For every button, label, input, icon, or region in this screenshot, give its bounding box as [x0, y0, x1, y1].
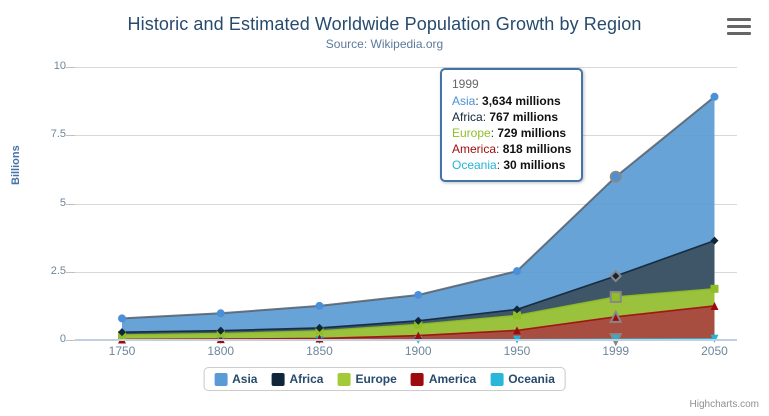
- plot-area: [75, 67, 737, 340]
- point-marker-asia[interactable]: [611, 172, 621, 182]
- y-axis-tick: 2.5: [6, 265, 66, 277]
- legend: AsiaAfricaEuropeAmericaOceania: [203, 367, 566, 391]
- chart-title: Historic and Estimated Worldwide Populat…: [0, 14, 769, 35]
- x-axis-tick: 1900: [405, 344, 432, 358]
- hamburger-bar: [727, 32, 751, 35]
- legend-item-america[interactable]: America: [411, 372, 476, 386]
- legend-label: Africa: [289, 372, 323, 386]
- x-axis-line: [75, 340, 737, 341]
- x-axis-tick: 1750: [109, 344, 136, 358]
- highcharts-credit[interactable]: Highcharts.com: [690, 399, 759, 410]
- tooltip-header: 1999: [452, 76, 571, 93]
- point-marker-europe[interactable]: [710, 285, 718, 293]
- legend-item-europe[interactable]: Europe: [337, 372, 396, 386]
- chart-container: Historic and Estimated Worldwide Populat…: [0, 0, 769, 416]
- tooltip-separator: :: [496, 142, 503, 156]
- tooltip-rows: Asia: 3,634 millionsAfrica: 767 millions…: [452, 93, 571, 173]
- legend-items: AsiaAfricaEuropeAmericaOceania: [214, 372, 555, 386]
- tooltip-series-name: Europe: [452, 126, 491, 140]
- x-axis-tick: 1999: [602, 344, 629, 358]
- tooltip-row: Asia: 3,634 millions: [452, 93, 571, 109]
- y-axis-tick-mark: [66, 204, 75, 205]
- y-axis-tick-mark: [66, 135, 75, 136]
- y-axis-title: Billions: [10, 145, 22, 185]
- series-layer: [75, 67, 737, 340]
- legend-item-africa[interactable]: Africa: [271, 372, 323, 386]
- point-marker-europe[interactable]: [611, 292, 621, 302]
- y-axis-tick: 7.5: [6, 128, 66, 140]
- tooltip-series-name: Asia: [452, 94, 475, 108]
- tooltip-series-name: America: [452, 142, 496, 156]
- tooltip-row: Oceania: 30 millions: [452, 157, 571, 173]
- y-axis-tick-mark: [66, 272, 75, 273]
- legend-swatch: [411, 373, 424, 386]
- tooltip-series-value: 818 millions: [503, 142, 572, 156]
- legend-item-oceania[interactable]: Oceania: [490, 372, 555, 386]
- tooltip-series-value: 767 millions: [489, 110, 558, 124]
- legend-label: Oceania: [508, 372, 555, 386]
- tooltip-series-value: 30 millions: [503, 158, 565, 172]
- legend-swatch: [271, 373, 284, 386]
- tooltip-row: America: 818 millions: [452, 141, 571, 157]
- hamburger-bar: [727, 25, 751, 28]
- tooltip-series-name: Oceania: [452, 158, 497, 172]
- x-axis-tick: 1950: [504, 344, 531, 358]
- legend-swatch: [214, 373, 227, 386]
- y-axis-tick-mark: [66, 67, 75, 68]
- x-axis-tick: 1850: [306, 344, 333, 358]
- chart-subtitle: Source: Wikipedia.org: [0, 37, 769, 51]
- legend-label: Europe: [355, 372, 396, 386]
- y-axis-tick: 5: [6, 197, 66, 209]
- tooltip-row: Europe: 729 millions: [452, 125, 571, 141]
- hamburger-bar: [727, 18, 751, 21]
- x-axis-tick: 2050: [701, 344, 728, 358]
- tooltip-separator: :: [475, 94, 482, 108]
- tooltip-series-value: 729 millions: [497, 126, 566, 140]
- point-marker-asia[interactable]: [315, 302, 323, 310]
- legend-label: Asia: [232, 372, 257, 386]
- point-marker-asia[interactable]: [710, 93, 718, 101]
- legend-item-asia[interactable]: Asia: [214, 372, 257, 386]
- y-axis-tick: 10: [6, 60, 66, 72]
- point-marker-asia[interactable]: [513, 267, 521, 275]
- legend-swatch: [337, 373, 350, 386]
- legend-swatch: [490, 373, 503, 386]
- tooltip: 1999 Asia: 3,634 millionsAfrica: 767 mil…: [440, 68, 583, 182]
- tooltip-series-value: 3,634 millions: [482, 94, 561, 108]
- tooltip-series-name: Africa: [452, 110, 483, 124]
- tooltip-row: Africa: 767 millions: [452, 109, 571, 125]
- export-menu-icon[interactable]: [727, 18, 751, 38]
- point-marker-asia[interactable]: [118, 314, 126, 322]
- x-axis-tick: 1800: [207, 344, 234, 358]
- point-marker-asia[interactable]: [217, 309, 225, 317]
- y-axis-tick-mark: [66, 340, 75, 341]
- y-axis-tick: 0: [6, 333, 66, 345]
- point-marker-asia[interactable]: [414, 291, 422, 299]
- legend-label: America: [429, 372, 476, 386]
